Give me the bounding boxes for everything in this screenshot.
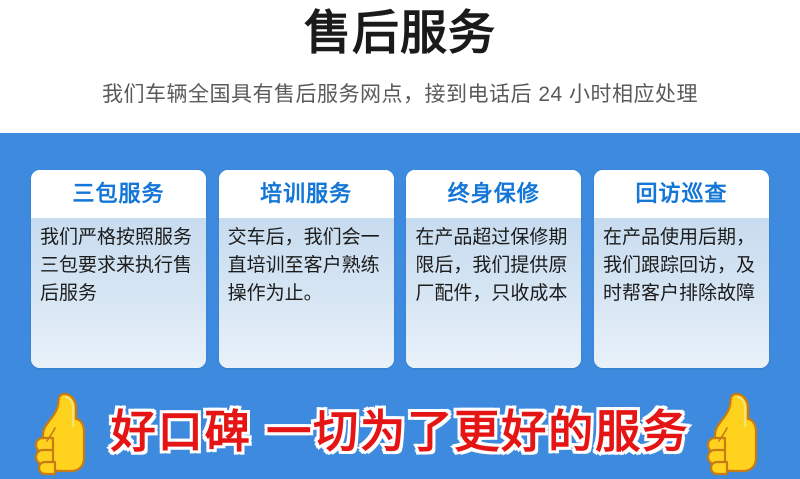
slogan-banner: 好口碑 一切为了更好的服务 xyxy=(0,385,800,479)
card-text: 交车后，我们会一直培训至客户熟练操作为止。 xyxy=(228,224,385,308)
service-card[interactable]: 三包服务 我们严格按照服务三包要求来执行售后服务 xyxy=(31,170,206,368)
thumbs-up-icon xyxy=(703,388,769,476)
service-card[interactable]: 培训服务 交车后，我们会一直培训至客户熟练操作为止。 xyxy=(219,170,394,368)
card-title: 回访巡查 xyxy=(635,181,727,207)
card-title-band: 回访巡查 xyxy=(594,170,769,218)
slogan-text: 好口碑 一切为了更好的服务 xyxy=(111,406,690,458)
card-body: 交车后，我们会一直培训至客户熟练操作为止。 xyxy=(219,218,394,368)
card-title-band: 三包服务 xyxy=(31,170,206,218)
card-body: 在产品使用后期，我们跟踪回访，及时帮客户排除故障 xyxy=(594,218,769,368)
blue-content-area: 三包服务 我们严格按照服务三包要求来执行售后服务 培训服务 交车后，我们会一直培… xyxy=(0,133,800,479)
card-title: 培训服务 xyxy=(260,181,352,207)
card-text: 我们严格按照服务三包要求来执行售后服务 xyxy=(40,224,197,308)
card-body: 我们严格按照服务三包要求来执行售后服务 xyxy=(31,218,206,368)
header-section: 售后服务 我们车辆全国具有售后服务网点，接到电话后 24 小时相应处理 xyxy=(0,0,800,133)
page-subtitle: 我们车辆全国具有售后服务网点，接到电话后 24 小时相应处理 xyxy=(0,80,800,110)
service-cards-row: 三包服务 我们严格按照服务三包要求来执行售后服务 培训服务 交车后，我们会一直培… xyxy=(31,170,769,368)
page-title: 售后服务 xyxy=(0,4,800,62)
card-body: 在产品超过保修期限后，我们提供原厂配件，只收成本 xyxy=(406,218,581,368)
card-title-band: 培训服务 xyxy=(219,170,394,218)
card-text: 在产品使用后期，我们跟踪回访，及时帮客户排除故障 xyxy=(603,224,760,308)
card-title-band: 终身保修 xyxy=(406,170,581,218)
after-sales-service-banner: 售后服务 我们车辆全国具有售后服务网点，接到电话后 24 小时相应处理 三包服务… xyxy=(0,0,800,479)
service-card[interactable]: 回访巡查 在产品使用后期，我们跟踪回访，及时帮客户排除故障 xyxy=(594,170,769,368)
card-text: 在产品超过保修期限后，我们提供原厂配件，只收成本 xyxy=(415,224,572,308)
card-title: 三包服务 xyxy=(72,181,164,207)
service-card[interactable]: 终身保修 在产品超过保修期限后，我们提供原厂配件，只收成本 xyxy=(406,170,581,368)
card-title: 终身保修 xyxy=(448,181,540,207)
thumbs-up-icon xyxy=(31,388,97,476)
